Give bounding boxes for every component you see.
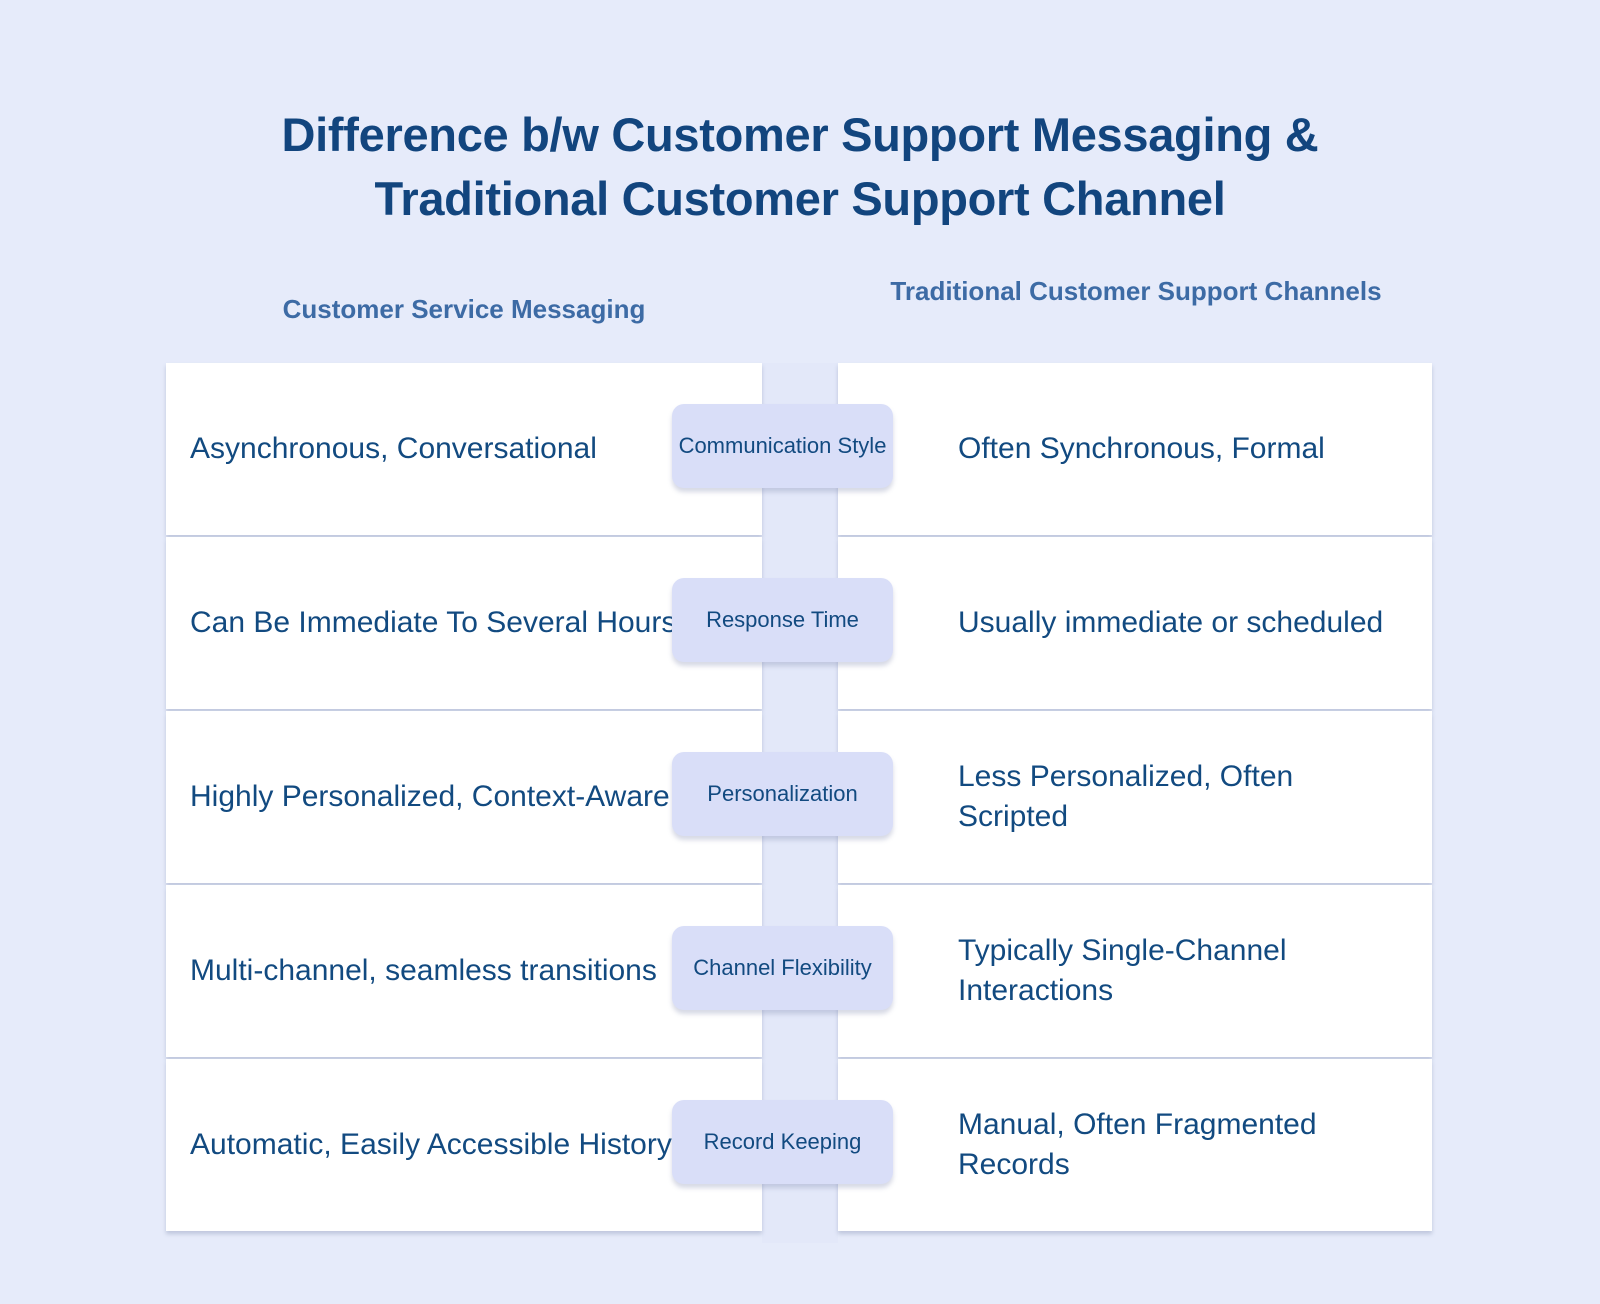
messaging-cell-text: Asynchronous, Conversational xyxy=(190,429,732,469)
traditional-cell: Manual, Often Fragmented Records xyxy=(838,1059,1432,1231)
comparison-row: Highly Personalized, Context-Aware Perso… xyxy=(0,711,1600,883)
criterion-badge: Personalization xyxy=(672,752,893,836)
traditional-cell-text: Less Personalized, Often Scripted xyxy=(958,757,1408,837)
criterion-badge-label: Communication Style xyxy=(673,431,893,461)
column-header-traditional-support-channels: Traditional Customer Support Channels xyxy=(838,272,1434,311)
traditional-cell: Less Personalized, Often Scripted xyxy=(838,711,1432,883)
traditional-cell-text: Typically Single-Channel Interactions xyxy=(958,931,1408,1011)
comparison-row: Asynchronous, Conversational Communicati… xyxy=(0,363,1600,535)
traditional-cell-text: Often Synchronous, Formal xyxy=(958,429,1408,469)
traditional-cell-text: Usually immediate or scheduled xyxy=(958,603,1408,643)
comparison-row: Automatic, Easily Accessible History Rec… xyxy=(0,1059,1600,1231)
criterion-badge: Record Keeping xyxy=(672,1100,893,1184)
criterion-badge: Channel Flexibility xyxy=(672,926,893,1010)
criterion-badge: Communication Style xyxy=(672,404,893,488)
messaging-cell-text: Automatic, Easily Accessible History xyxy=(190,1125,732,1165)
column-header-customer-service-messaging: Customer Service Messaging xyxy=(166,290,762,329)
criterion-badge-label: Response Time xyxy=(700,605,865,635)
comparison-infographic: Difference b/w Customer Support Messagin… xyxy=(0,0,1600,1304)
comparison-row: Multi-channel, seamless transitions Chan… xyxy=(0,885,1600,1057)
criterion-badge-label: Channel Flexibility xyxy=(687,953,878,983)
messaging-cell-text: Highly Personalized, Context-Aware xyxy=(190,777,732,817)
traditional-cell: Usually immediate or scheduled xyxy=(838,537,1432,709)
page-title: Difference b/w Customer Support Messagin… xyxy=(160,103,1440,231)
criterion-badge-label: Record Keeping xyxy=(698,1127,868,1157)
traditional-cell: Often Synchronous, Formal xyxy=(838,363,1432,535)
messaging-cell-text: Can Be Immediate To Several Hours xyxy=(190,603,732,643)
traditional-cell-text: Manual, Often Fragmented Records xyxy=(958,1105,1408,1185)
traditional-cell: Typically Single-Channel Interactions xyxy=(838,885,1432,1057)
criterion-badge: Response Time xyxy=(672,578,893,662)
comparison-rows: Asynchronous, Conversational Communicati… xyxy=(0,363,1600,1233)
criterion-badge-label: Personalization xyxy=(701,779,863,809)
comparison-row: Can Be Immediate To Several Hours Respon… xyxy=(0,537,1600,709)
messaging-cell-text: Multi-channel, seamless transitions xyxy=(190,951,732,991)
column-headers: Customer Service Messaging Traditional C… xyxy=(166,272,1432,352)
